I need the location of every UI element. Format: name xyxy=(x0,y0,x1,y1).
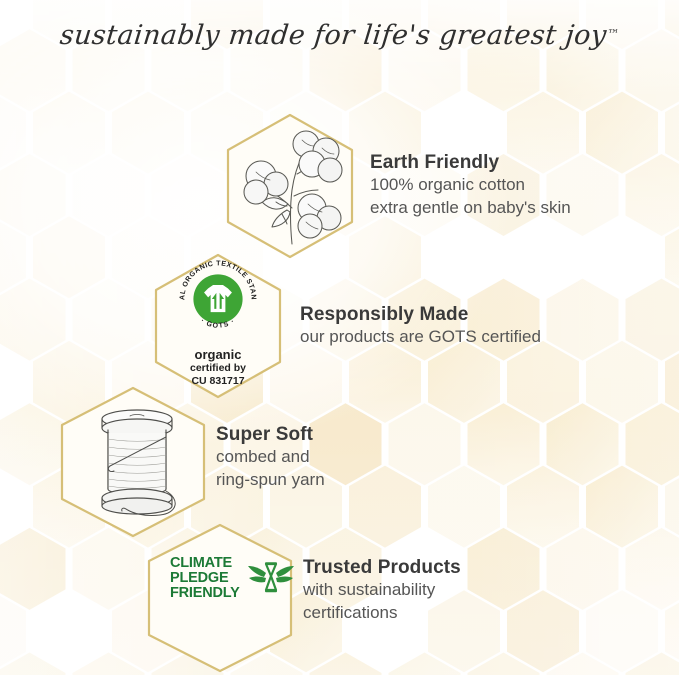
feature-text-trusted-products: Trusted Products with sustainability cer… xyxy=(303,557,461,624)
page-title: sustainably made for life's greatest joy… xyxy=(0,20,679,51)
feature-line: our products are GOTS certified xyxy=(300,326,541,348)
feature-title: Super Soft xyxy=(216,424,325,446)
feature-hex-super-soft xyxy=(58,385,208,539)
gots-certified-by-label: certified by xyxy=(152,362,284,375)
feature-title: Earth Friendly xyxy=(370,152,571,174)
feature-text-super-soft: Super Soft combed and ring-spun yarn xyxy=(216,424,325,491)
feature-title: Responsibly Made xyxy=(300,304,541,326)
gots-organic-certification-icon: GLOBAL ORGANIC TEXTILE STANDARD · GOTS ·… xyxy=(152,258,284,387)
promo-image: sustainably made for life's greatest joy… xyxy=(0,0,679,675)
feature-text-earth-friendly: Earth Friendly 100% organic cotton extra… xyxy=(370,152,571,219)
feature-title: Trusted Products xyxy=(303,557,461,579)
feature-line: extra gentle on baby's skin xyxy=(370,197,571,219)
feature-hex-earth-friendly xyxy=(224,112,356,260)
feature-line: 100% organic cotton xyxy=(370,174,571,196)
gots-seal-icon: GLOBAL ORGANIC TEXTILE STANDARD · GOTS · xyxy=(177,258,259,340)
trademark-symbol: ™ xyxy=(606,27,619,41)
gots-organic-label: organic xyxy=(152,347,284,362)
feature-line: certifications xyxy=(303,602,461,624)
climate-pledge-wordmark: CLIMATE PLEDGE FRIENDLY xyxy=(170,556,240,601)
gots-certifier-code: CU 831717 xyxy=(152,375,284,388)
page-title-text: sustainably made for life's greatest joy xyxy=(59,20,609,51)
cpf-line-2: PLEDGE xyxy=(170,571,240,586)
feature-line: combed and xyxy=(216,446,325,468)
feature-text-responsibly-made: Responsibly Made our products are GOTS c… xyxy=(300,304,541,349)
thread-spool-sketch-icon xyxy=(86,403,188,521)
cotton-boll-sketch-icon xyxy=(240,126,344,246)
feature-line: ring-spun yarn xyxy=(216,469,325,491)
cpf-line-1: CLIMATE xyxy=(170,556,240,571)
cpf-line-3: FRIENDLY xyxy=(170,586,240,601)
feature-line: with sustainability xyxy=(303,579,461,601)
winged-hourglass-icon xyxy=(247,557,295,599)
climate-pledge-friendly-icon: CLIMATE PLEDGE FRIENDLY xyxy=(170,556,295,601)
